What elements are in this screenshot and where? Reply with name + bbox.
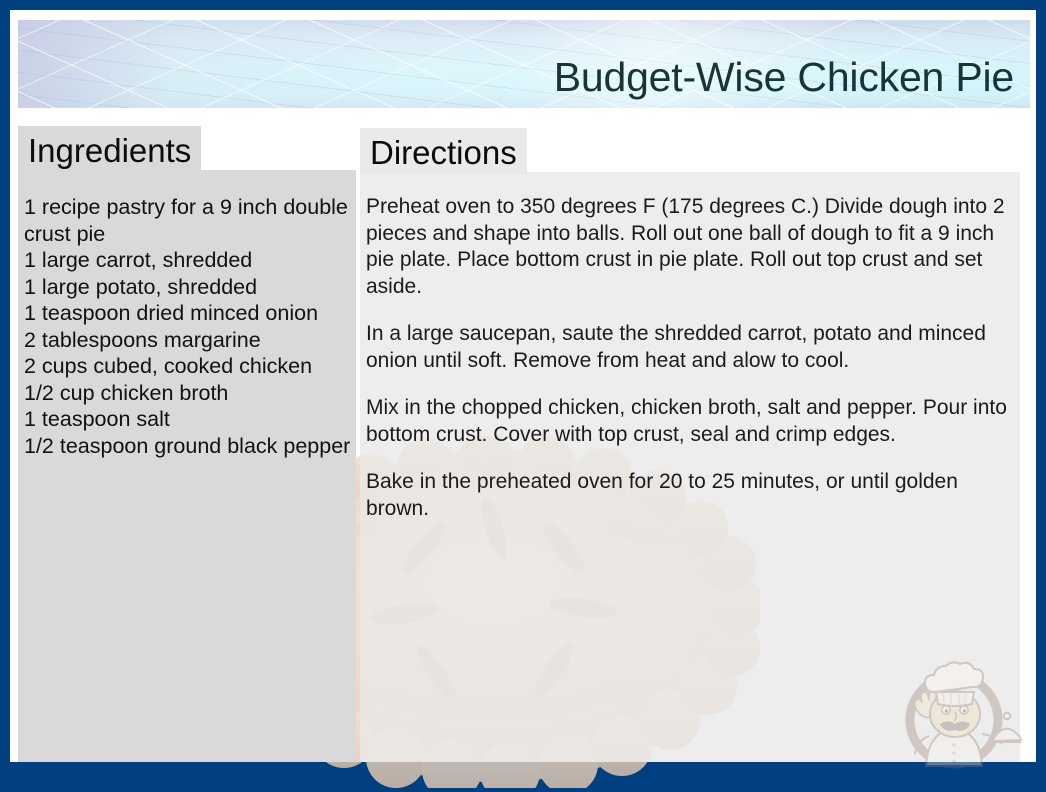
- direction-paragraph: Preheat oven to 350 degrees F (175 degre…: [366, 194, 1016, 300]
- page-title: Budget-Wise Chicken Pie: [554, 55, 1014, 100]
- title-banner: Budget-Wise Chicken Pie: [18, 20, 1030, 108]
- ingredient-item: 2 tablespoons margarine: [24, 327, 354, 354]
- direction-paragraph: Bake in the preheated oven for 20 to 25 …: [366, 469, 1016, 522]
- directions-heading: Directions: [360, 128, 527, 174]
- ingredient-item: 1 teaspoon dried minced onion: [24, 300, 354, 327]
- ingredients-heading: Ingredients: [18, 126, 201, 172]
- ingredient-item: 1/2 teaspoon ground black pepper: [24, 433, 354, 460]
- ingredient-item: 1 large potato, shredded: [24, 274, 354, 301]
- ingredients-list: 1 recipe pastry for a 9 inch double crus…: [24, 194, 354, 459]
- directions-body: Preheat oven to 350 degrees F (175 degre…: [366, 194, 1016, 522]
- ingredient-item: 1 teaspoon salt: [24, 406, 354, 433]
- recipe-slide: Budget-Wise Chicken Pie: [0, 0, 1046, 792]
- direction-paragraph: Mix in the chopped chicken, chicken brot…: [366, 395, 1016, 448]
- directions-panel: Preheat oven to 350 degrees F (175 degre…: [360, 172, 1020, 762]
- ingredient-item: 1 large carrot, shredded: [24, 247, 354, 274]
- ingredient-item: 2 cups cubed, cooked chicken: [24, 353, 354, 380]
- ingredients-panel: 1 recipe pastry for a 9 inch double crus…: [18, 170, 356, 762]
- ingredient-item: 1 recipe pastry for a 9 inch double crus…: [24, 194, 354, 247]
- direction-paragraph: In a large saucepan, saute the shredded …: [366, 321, 1016, 374]
- ingredient-item: 1/2 cup chicken broth: [24, 380, 354, 407]
